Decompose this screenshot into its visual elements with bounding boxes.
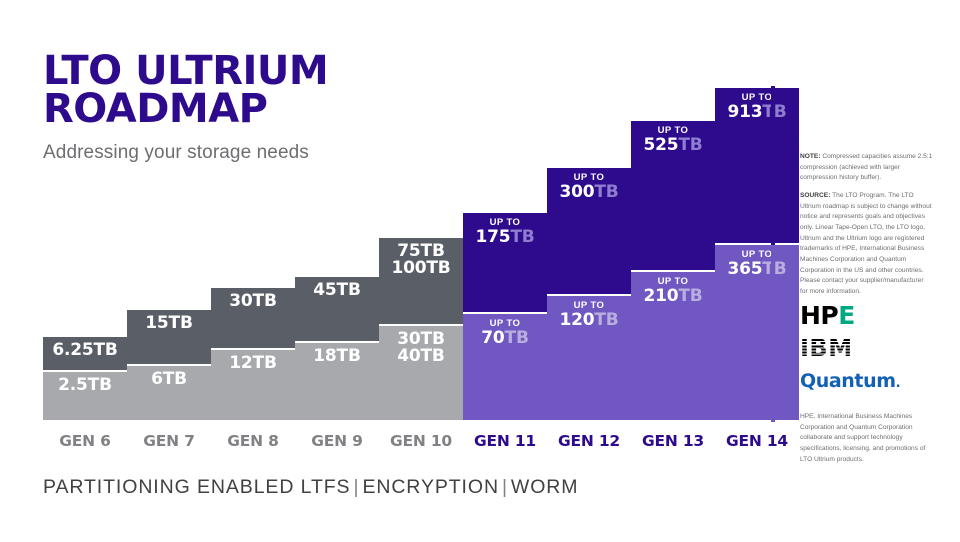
bar-value-compressed: 525TB <box>643 137 702 154</box>
bar-segment-compressed: 45TB <box>295 277 379 341</box>
ibm-logo-row: IBM <box>800 336 933 360</box>
bar-value-compressed: 45TB <box>313 282 360 299</box>
gen-label-gen-14: GEN 14 <box>715 432 799 450</box>
tagline-part-3: WORM <box>511 476 579 498</box>
gen-label-gen-12: GEN 12 <box>547 432 631 450</box>
bar-value-compressed: 175TB <box>475 229 534 246</box>
compressed-rule <box>771 86 775 245</box>
infographic-root: LTO ULTRIUM ROADMAP Addressing your stor… <box>0 0 960 542</box>
bar-value-native: 12TB <box>229 355 276 372</box>
capacity-axis-legend: COMPRESSED NATIVE <box>771 86 797 422</box>
bar-segment-native: UP TO 210TB <box>631 272 715 420</box>
bar-segment-compressed: UP TO 300TB <box>547 168 631 294</box>
bar-value-compressed: 300TB <box>559 184 618 201</box>
gen-label-gen-8: GEN 8 <box>211 432 295 450</box>
bar-value-compressed: 6.25TB <box>52 342 117 359</box>
gen-label-gen-11: GEN 11 <box>463 432 547 450</box>
quantum-logo: Quantum. <box>800 372 900 391</box>
native-rule <box>771 247 775 422</box>
bar-segment-native: 2.5TB <box>43 372 127 420</box>
tagline-separator-1: | <box>350 476 362 498</box>
tagline-separator-2: | <box>499 476 511 498</box>
source-paragraph: SOURCE: The LTO Program. The LTO Ultrium… <box>800 191 933 298</box>
footer-note-block: HPE, International Business Machines Cor… <box>800 412 933 472</box>
bar-segment-native: 18TB <box>295 343 379 420</box>
hpe-logo-row: HPE <box>800 303 933 327</box>
bar-segment-native: UP TO 70TB <box>463 314 547 420</box>
source-body: The LTO Program. The LTO Ultrium roadmap… <box>800 192 932 295</box>
quantum-logo-row: Quantum. <box>800 369 933 393</box>
bar-segment-compressed: 15TB <box>127 310 211 364</box>
hpe-logo-main: HP <box>800 301 838 330</box>
bar-segment-compressed: 6.25TB <box>43 337 127 370</box>
quantum-logo-text: Quantum <box>800 370 896 392</box>
quantum-logo-dot: . <box>896 376 901 391</box>
gen-label-gen-13: GEN 13 <box>631 432 715 450</box>
native-axis-label: NATIVE <box>779 318 791 364</box>
features-tagline: PARTITIONING ENABLED LTFS|ENCRYPTION|WOR… <box>43 476 578 499</box>
compressed-axis-label: COMPRESSED <box>779 120 791 208</box>
tagline-part-2: ENCRYPTION <box>362 476 499 498</box>
note-label: NOTE: <box>800 153 821 160</box>
gen-label-gen-10: GEN 10 <box>379 432 463 450</box>
bar-value-native: 2.5TB <box>58 377 112 394</box>
bar-value-compressed: 15TB <box>145 315 192 332</box>
bar-value-native: 70TB <box>481 330 528 347</box>
bar-value-compressed: 30TB <box>229 293 276 310</box>
tagline-part-1: PARTITIONING ENABLED LTFS <box>43 476 350 498</box>
bar-value-compressed: 75TB100TB <box>391 243 450 278</box>
bar-value-native: 6TB <box>151 371 187 388</box>
bar-segment-compressed: 30TB <box>211 288 295 348</box>
gen-label-gen-6: GEN 6 <box>43 432 127 450</box>
gen-label-gen-9: GEN 9 <box>295 432 379 450</box>
bar-segment-native: UP TO 120TB <box>547 296 631 420</box>
bar-value-compressed-line2: 100TB <box>391 260 450 277</box>
bar-value-native: 18TB <box>313 348 360 365</box>
ibm-logo: IBM <box>800 336 880 360</box>
bar-segment-compressed: 75TB100TB <box>379 238 463 324</box>
bar-value-native: 30TB40TB <box>397 331 444 366</box>
source-label: SOURCE: <box>800 192 830 199</box>
notes-block: NOTE: Compressed capacities assume 2.5:1… <box>800 152 933 305</box>
note-paragraph: NOTE: Compressed capacities assume 2.5:1… <box>800 152 933 184</box>
note-body: Compressed capacities assume 2.5:1 compr… <box>800 153 932 181</box>
bar-segment-native: 12TB <box>211 350 295 420</box>
bar-segment-native: 6TB <box>127 366 211 420</box>
bar-value-native: 210TB <box>643 288 702 305</box>
roadmap-bar-chart: 6.25TB 2.5TB GEN 6 15TB 6TB GEN 7 30TB 1… <box>0 0 790 470</box>
hpe-logo: HPE <box>800 303 855 328</box>
footer-note-text: HPE, International Business Machines Cor… <box>800 412 933 465</box>
hpe-logo-accent: E <box>838 301 855 330</box>
bar-value-native-line2: 40TB <box>397 348 444 365</box>
partner-logos: HPE IBM Quantum. <box>800 303 933 402</box>
gen-label-gen-7: GEN 7 <box>127 432 211 450</box>
ibm-logo-text: IBM <box>800 336 880 360</box>
bar-segment-compressed: UP TO 175TB <box>463 213 547 312</box>
bar-value-native: 120TB <box>559 312 618 329</box>
bar-segment-compressed: UP TO 525TB <box>631 121 715 270</box>
bar-segment-native: 30TB40TB <box>379 326 463 420</box>
